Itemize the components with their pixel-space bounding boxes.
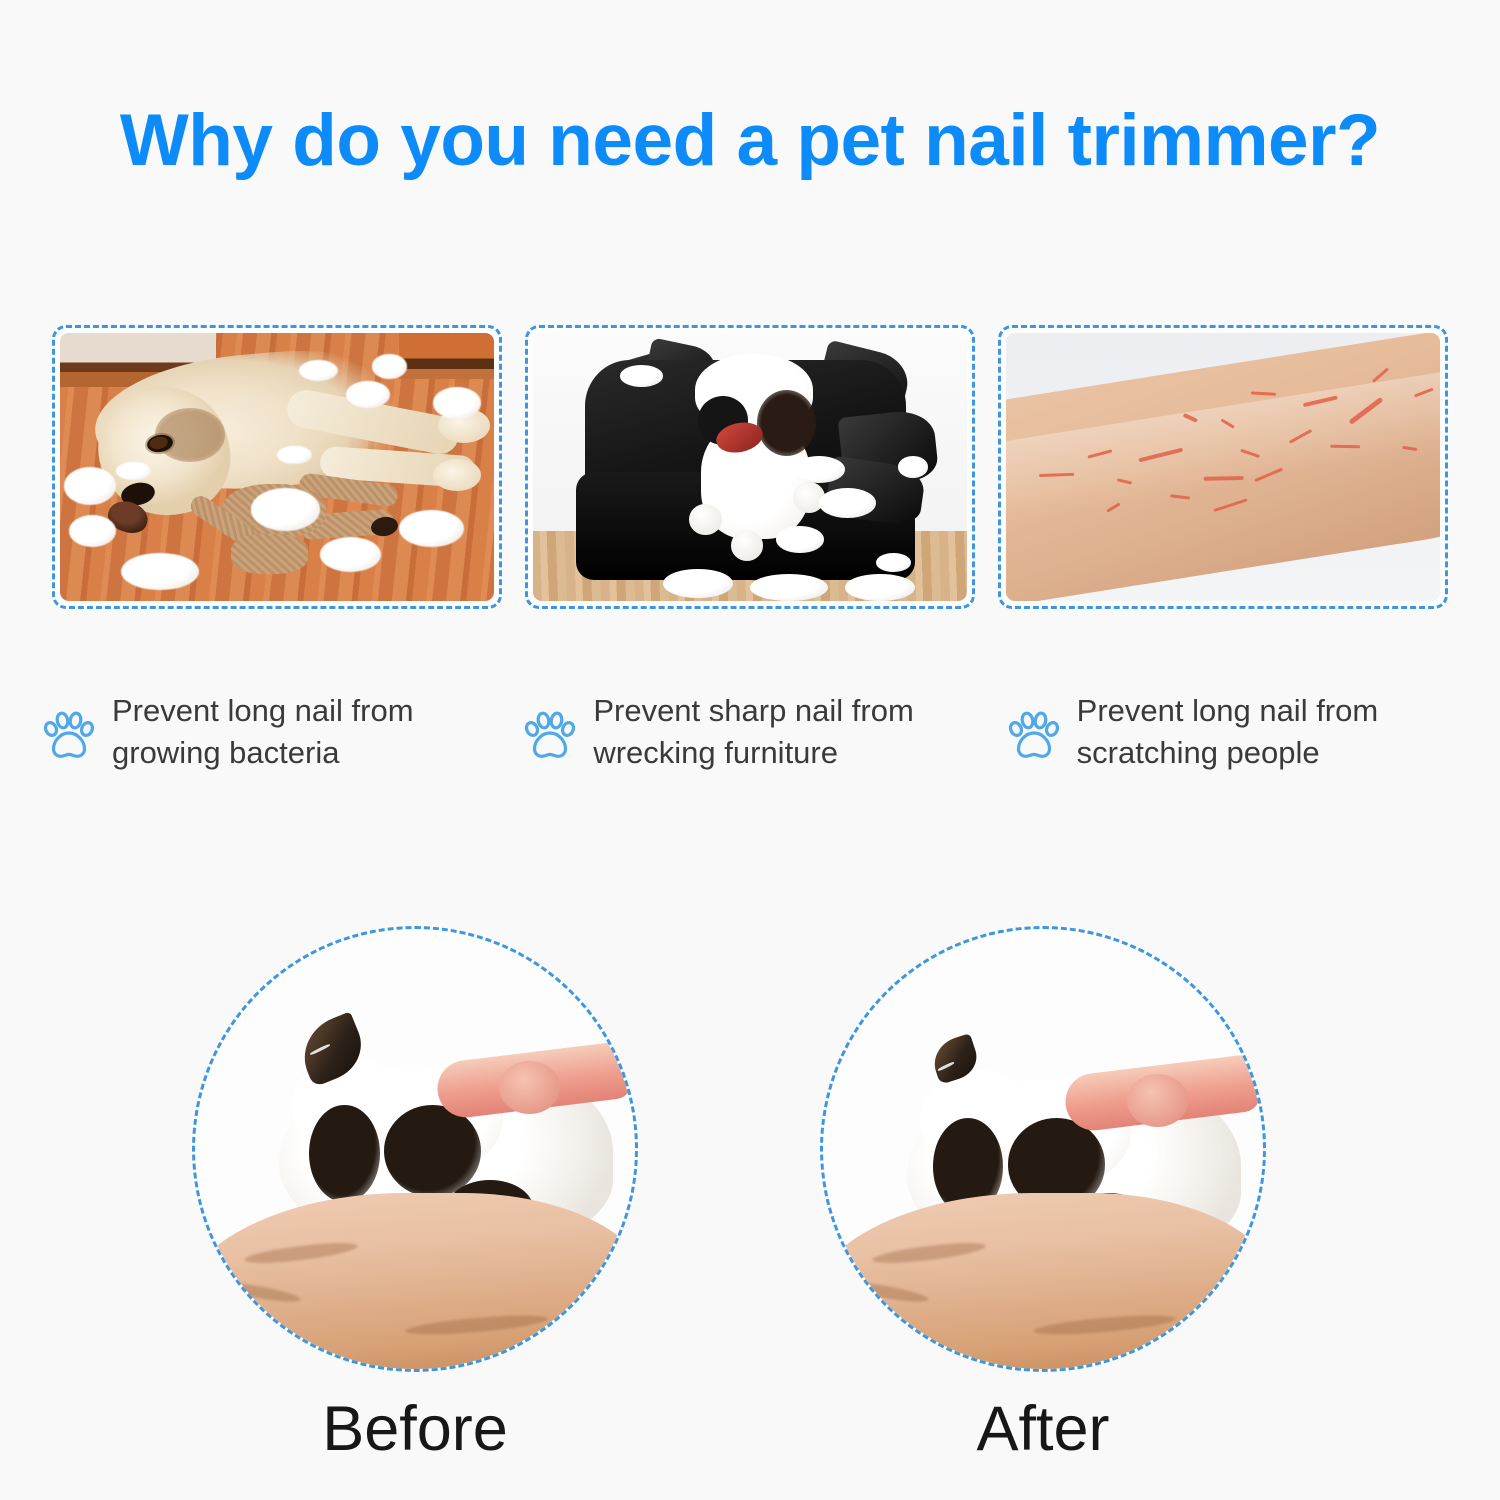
reason-caption-text: Prevent sharp nail from wrecking furnitu… [593,690,913,774]
dog-with-destroyed-plush-toy-photo [60,333,494,601]
human-fingertip [499,1061,561,1114]
hand-crease [871,1239,986,1267]
stuffing-tuft [346,381,389,408]
stuffing-tuft [372,354,407,378]
caption-line-2: growing bacteria [112,735,339,770]
dog-paw-long-nail-photo [195,929,635,1369]
stuffing-tuft [320,537,381,572]
reason-caption-2: Prevent sharp nail from wrecking furnitu… [513,690,994,774]
toy-leg [231,534,308,574]
stuffing-tuft [876,553,911,572]
dog-paw [731,530,763,561]
human-hand [192,1193,638,1372]
dog-paw [689,504,721,535]
caption-line-1: Prevent long nail from [112,693,414,728]
stuffing-tuft [69,515,117,547]
caption-line-2: wrecking furniture [593,735,838,770]
stuffing-tuft [433,387,481,419]
caption-line-1: Prevent sharp nail from [593,693,913,728]
reason-caption-1: Prevent long nail from growing bacteria [30,690,513,774]
caption-line-1: Prevent long nail from [1077,693,1379,728]
dashed-circle-frame [192,926,638,1372]
after-label: After [820,1398,1266,1461]
reason-caption-text: Prevent long nail from growing bacteria [112,690,414,774]
human-fingertip [1127,1074,1189,1127]
reason-photos-row [52,325,1448,609]
hand-crease [215,1279,301,1306]
dog-paw-trimmed-nail-photo [823,929,1263,1369]
hand-crease [243,1239,358,1267]
hand-crease [843,1279,929,1306]
reason-photo-panel-1 [52,325,502,609]
reason-caption-3: Prevent long nail from scratching people [995,690,1478,774]
dog-paw [433,459,481,491]
stuffing-tuft [399,510,464,548]
hand-crease [1033,1312,1176,1339]
paw-print-icon [521,706,579,769]
reason-caption-text: Prevent long nail from scratching people [1077,690,1379,774]
page-title: Why do you need a pet nail trimmer? [0,104,1500,177]
skin-highlight [1006,367,1440,526]
stuffing-tuft [819,488,875,517]
reason-photo-panel-2 [525,325,975,609]
reason-photo-panel-3 [998,325,1448,609]
paw-print-icon [40,706,98,769]
stuffing-tuft [845,574,914,601]
stuffing-tuft [663,569,732,598]
before-comparison [192,926,638,1372]
before-label: Before [192,1398,638,1461]
dashed-circle-frame [820,926,1266,1372]
after-comparison [820,926,1266,1372]
stuffing-tuft [277,446,312,465]
human-hand [820,1193,1266,1372]
scratch-mark [1331,445,1361,449]
stuffing-tuft [299,360,338,381]
caption-line-2: scratching people [1077,735,1320,770]
stuffing-tuft [898,456,928,477]
scratched-human-forearm-photo [1006,333,1440,601]
dog-on-shredded-leather-armchair-photo [533,333,967,601]
paw-print-icon [1005,706,1063,769]
stuffing-tuft [620,365,663,386]
stuffing-tuft [750,574,828,601]
reason-captions-row: Prevent long nail from growing bacteria … [30,690,1478,774]
stuffing-tuft [121,553,199,591]
wall-right-segment [399,333,494,379]
dog-eye-patch [757,390,816,456]
dog-toe-shadow [309,1105,379,1202]
stuffing-tuft [64,467,116,505]
scratch-mark [1213,499,1247,513]
hand-crease [405,1312,548,1339]
scratch-mark [1251,391,1276,395]
stuffing-tuft [776,526,824,553]
scratch-mark [1170,495,1190,500]
